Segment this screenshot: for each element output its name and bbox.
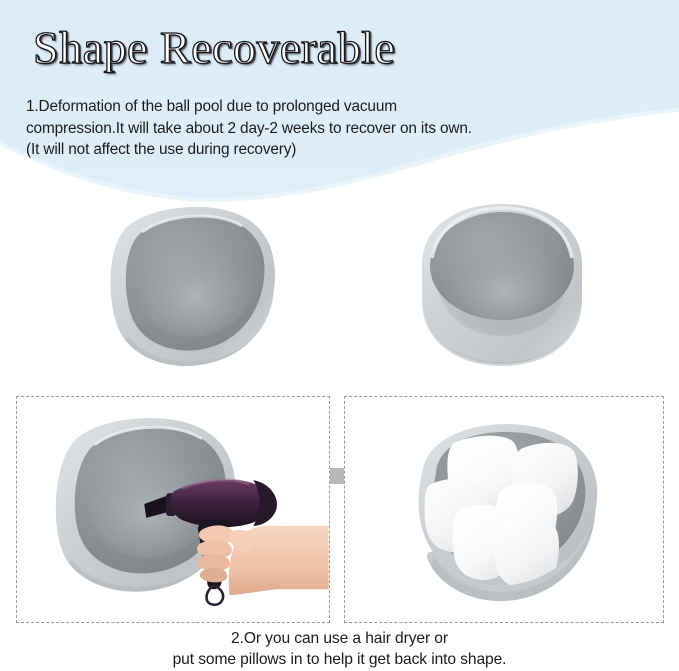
intro-paragraph: 1.Deformation of the ball pool due to pr… bbox=[26, 96, 626, 161]
recovered-ball-pool-image bbox=[398, 192, 606, 378]
intro-line-3: (It will not affect the use during recov… bbox=[26, 139, 626, 161]
product-infographic: Shape Recoverable 1.Deformation of the b… bbox=[0, 0, 679, 671]
intro-line-2: compression.It will take about 2 day-2 w… bbox=[26, 118, 626, 140]
page-title: Shape Recoverable bbox=[33, 22, 395, 74]
caption-line-1: 2.Or you can use a hair dryer or bbox=[0, 628, 679, 649]
deformed-ball-pool-image bbox=[92, 192, 300, 378]
intro-line-1: 1.Deformation of the ball pool due to pr… bbox=[26, 96, 626, 118]
pillows-illustration bbox=[345, 397, 663, 622]
before-after-comparison bbox=[0, 192, 679, 378]
hair-dryer-illustration bbox=[17, 397, 329, 622]
caption-line-2: put some pillows in to help it get back … bbox=[0, 649, 679, 670]
pillows-method-panel bbox=[344, 396, 664, 623]
bottom-caption: 2.Or you can use a hair dryer or put som… bbox=[0, 628, 679, 670]
hair-dryer-method-panel bbox=[16, 396, 330, 623]
